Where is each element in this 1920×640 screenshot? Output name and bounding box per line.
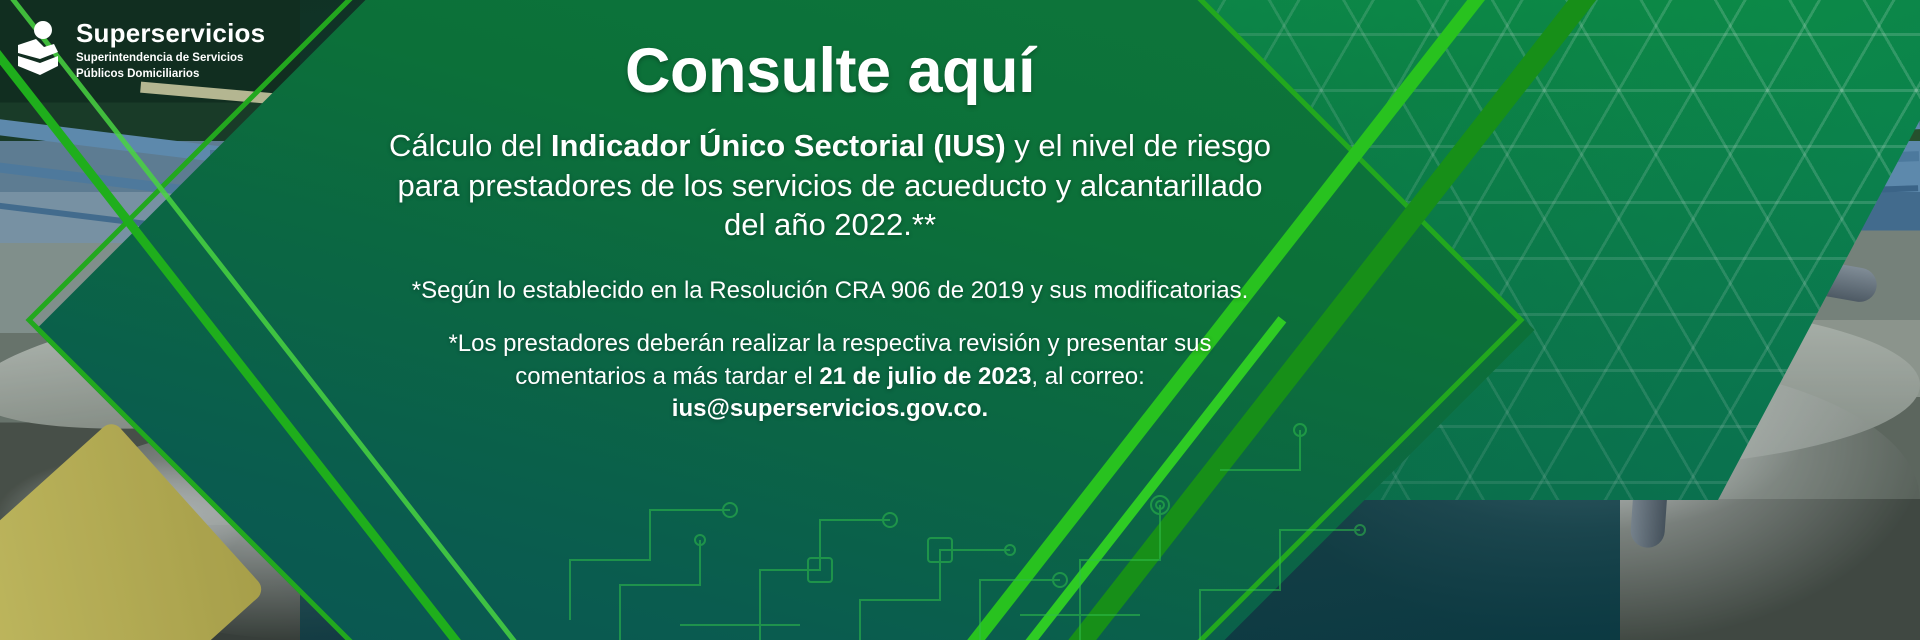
superservicios-ius-banner[interactable]: Superservicios Superintendencia de Servi… bbox=[0, 0, 1920, 640]
logo-subtitle-line-1: Superintendencia de Servicios bbox=[76, 51, 265, 67]
subtitle-bold-ius: Indicador Único Sectorial (IUS) bbox=[551, 128, 1006, 163]
note2-deadline-date: 21 de julio de 2023 bbox=[819, 363, 1031, 390]
superservicios-logo[interactable]: Superservicios Superintendencia de Servi… bbox=[14, 20, 265, 82]
banner-headline: Consulte aquí bbox=[625, 38, 1035, 104]
note2-part-2: , al correo: bbox=[1031, 363, 1144, 390]
banner-subtitle: Cálculo del Indicador Único Sectorial (I… bbox=[380, 126, 1280, 245]
logo-subtitle: Superintendencia de Servicios Públicos D… bbox=[76, 51, 265, 82]
logo-subtitle-line-2: Públicos Domiciliarios bbox=[76, 67, 265, 83]
banner-content: Consulte aquí Cálculo del Indicador Únic… bbox=[330, 0, 1330, 640]
superservicios-person-book-logo-icon bbox=[14, 20, 64, 82]
subtitle-part-1: Cálculo del bbox=[389, 128, 551, 163]
note2-email-address[interactable]: ius@superservicios.gov.co. bbox=[672, 395, 988, 422]
logo-wordmark: Superservicios Superintendencia de Servi… bbox=[76, 20, 265, 82]
logo-title: Superservicios bbox=[76, 20, 265, 46]
banner-note-comentarios: *Los prestadores deberán realizar la res… bbox=[380, 328, 1280, 424]
banner-note-resolucion: *Según lo establecido en la Resolución C… bbox=[412, 275, 1249, 306]
